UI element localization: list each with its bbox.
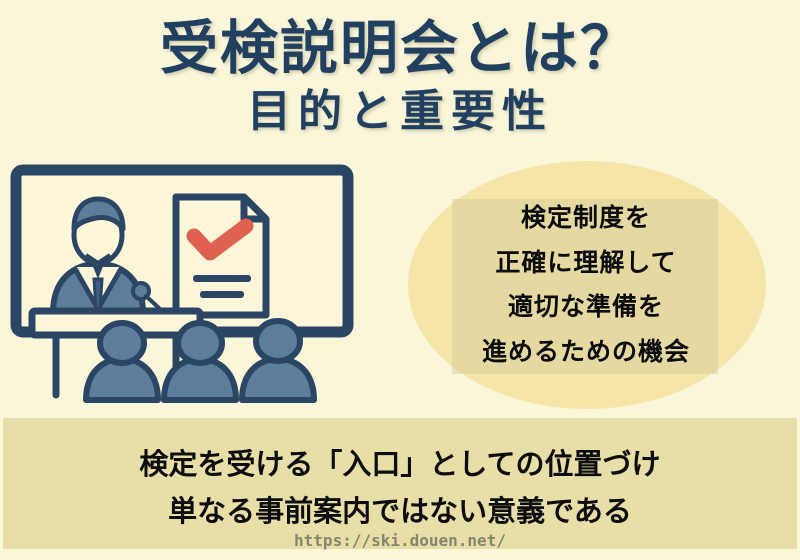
banner-line-1: 検定を受ける「入口」としての位置づけ	[3, 441, 797, 483]
poster-canvas: 受検説明会とは？ 目的と重要性	[0, 0, 800, 560]
page-title: 受検説明会とは？	[0, 14, 800, 82]
title-block: 受検説明会とは？ 目的と重要性	[0, 14, 800, 139]
page-subtitle: 目的と重要性	[0, 84, 800, 139]
audience-silhouettes-icon	[86, 321, 314, 400]
callout-line-4: 進めるための機会	[404, 330, 768, 375]
bottom-banner: 検定を受ける「入口」としての位置づけ 単なる事前案内ではない意義である http…	[3, 418, 797, 549]
callout-text-block: 検定制度を 正確に理解して 適切な準備を 進めるための機会	[404, 196, 768, 374]
seminar-presentation-illustration	[8, 163, 368, 413]
callout-line-2: 正確に理解して	[404, 241, 768, 286]
callout-line-1: 検定制度を	[404, 196, 768, 241]
banner-line-2: 単なる事前案内ではない意義である	[3, 488, 797, 530]
document-with-checkmark-icon	[176, 197, 266, 315]
site-url[interactable]: https://ski.douen.net/	[3, 531, 797, 550]
callout-line-3: 適切な準備を	[404, 285, 768, 330]
